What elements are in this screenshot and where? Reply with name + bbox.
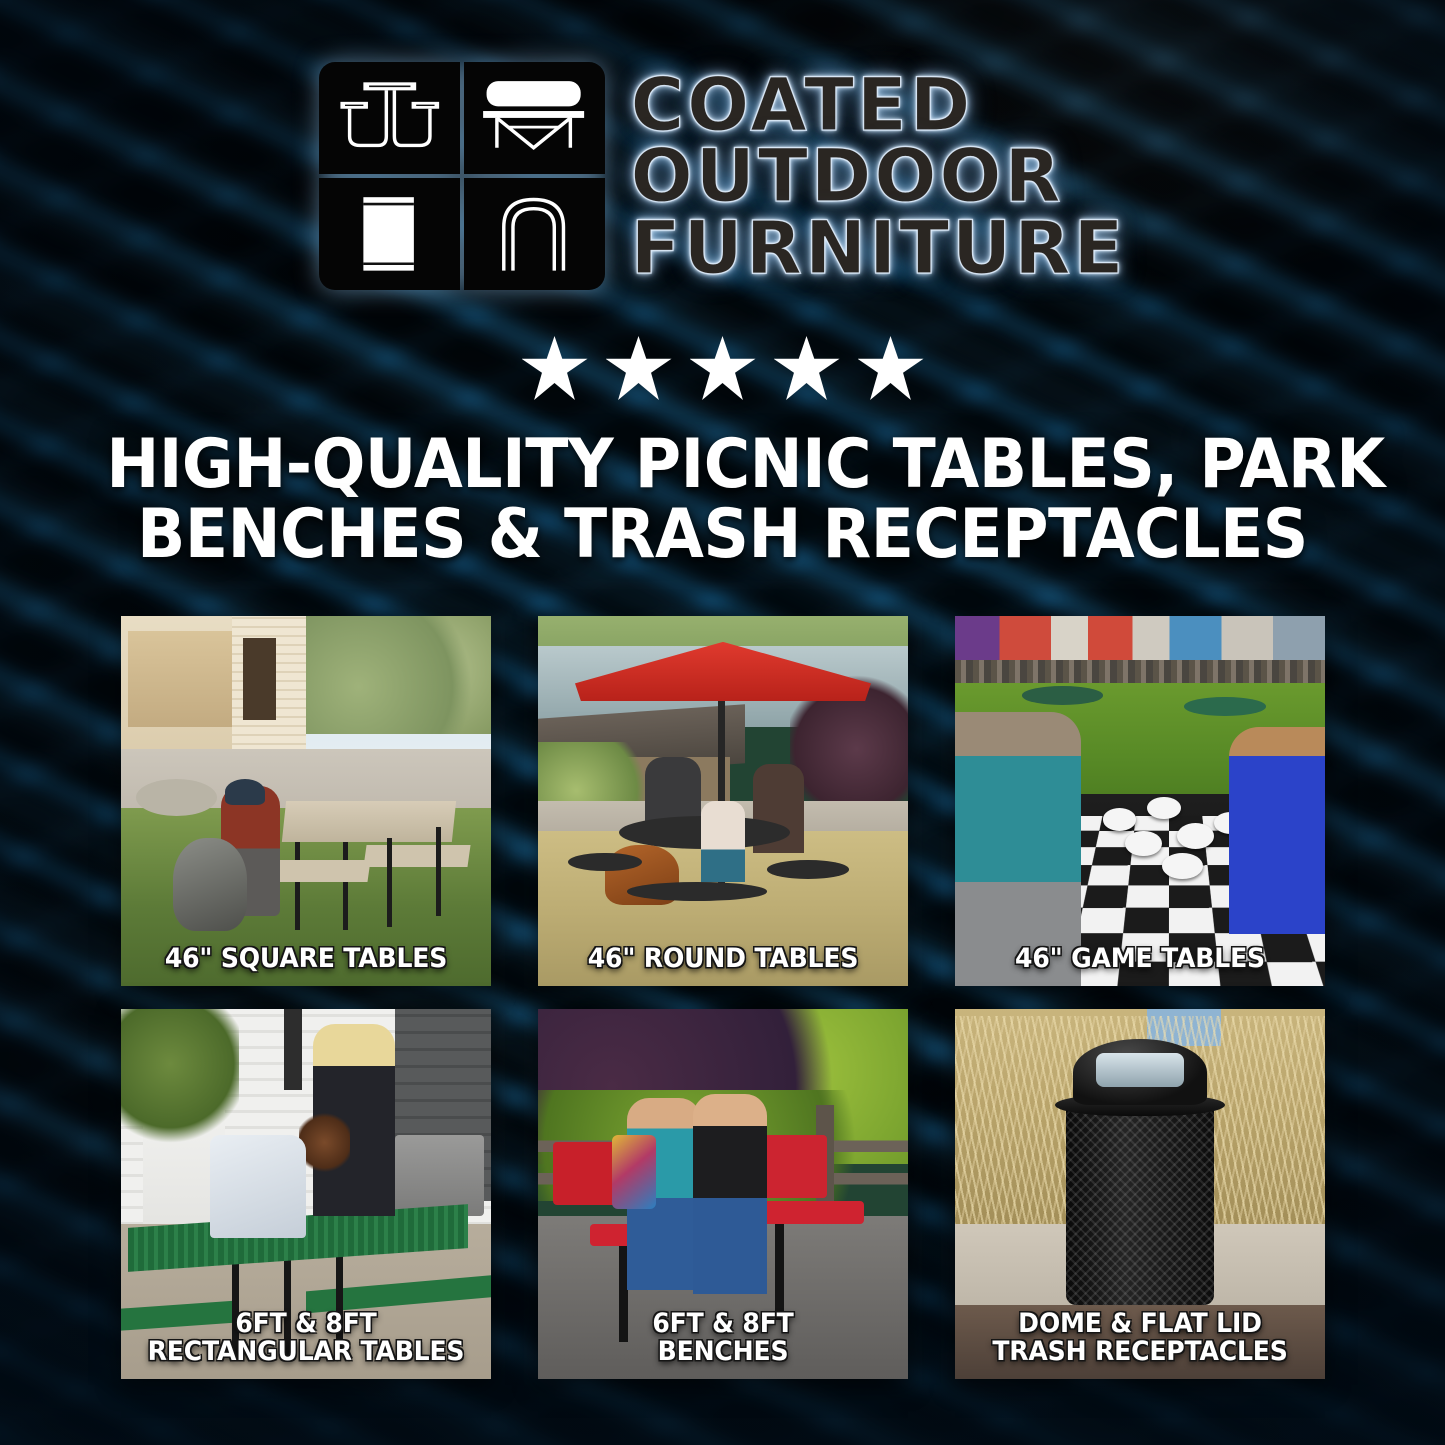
arch-bike-rack-icon [464, 178, 605, 290]
star-icon [690, 336, 756, 400]
product-photo-square-tables [121, 616, 491, 986]
product-card-game-tables[interactable]: 46" GAME TABLES [955, 616, 1325, 986]
headline-line-1: HIGH-QUALITY PICNIC TABLES, PARK [106, 430, 1338, 500]
headline-line-2: BENCHES & TRASH RECEPTACLES [106, 500, 1338, 570]
product-card-benches[interactable]: 6FT & 8FT BENCHES [538, 1009, 908, 1379]
star-icon [774, 336, 840, 400]
star-icon [522, 336, 588, 400]
product-caption: 6FT & 8FT BENCHES [557, 1310, 890, 1367]
caption-line-1: 46" GAME TABLES [974, 945, 1307, 974]
headline: HIGH-QUALITY PICNIC TABLES, PARK BENCHES… [106, 430, 1338, 570]
caption-line-1: DOME & FLAT LID [974, 1310, 1307, 1339]
caption-line-2: RECTANGULAR TABLES [140, 1338, 473, 1367]
logo-icon-grid [319, 62, 605, 290]
brand-logo: COATED OUTDOOR FURNITURE [0, 62, 1445, 290]
caption-line-2: BENCHES [557, 1338, 890, 1367]
product-caption: 6FT & 8FT RECTANGULAR TABLES [140, 1310, 473, 1367]
caption-line-2: TRASH RECEPTACLES [974, 1338, 1307, 1367]
caption-line-1: 46" ROUND TABLES [557, 945, 890, 974]
product-card-square-tables[interactable]: 46" SQUARE TABLES [121, 616, 491, 986]
product-card-trash-receptacles[interactable]: DOME & FLAT LID TRASH RECEPTACLES [955, 1009, 1325, 1379]
promo-poster: COATED OUTDOOR FURNITURE HIGH-QUALITY PI… [0, 0, 1445, 1445]
product-caption: DOME & FLAT LID TRASH RECEPTACLES [974, 1310, 1307, 1367]
product-caption: 46" ROUND TABLES [557, 945, 890, 974]
product-photo-game-tables [955, 616, 1325, 986]
product-caption: 46" SQUARE TABLES [140, 945, 473, 974]
brand-wordmark: COATED OUTDOOR FURNITURE [631, 69, 1127, 283]
picnic-table-front-icon [319, 62, 460, 174]
product-card-round-tables[interactable]: 46" ROUND TABLES [538, 616, 908, 986]
caption-line-1: 6FT & 8FT [140, 1310, 473, 1339]
star-icon [858, 336, 924, 400]
picnic-table-side-icon [464, 62, 605, 174]
caption-line-1: 6FT & 8FT [557, 1310, 890, 1339]
wordmark-line-3: FURNITURE [631, 214, 1127, 283]
caption-line-1: 46" SQUARE TABLES [140, 945, 473, 974]
product-caption: 46" GAME TABLES [974, 945, 1307, 974]
product-grid: 46" SQUARE TABLES [121, 616, 1325, 1379]
wordmark-line-2: OUTDOOR [631, 142, 1064, 211]
wordmark-line-1: COATED [631, 71, 974, 140]
star-icon [606, 336, 672, 400]
trash-receptacle-icon [319, 178, 460, 290]
product-photo-round-tables [538, 616, 908, 986]
star-rating [0, 336, 1445, 400]
product-card-rectangular-tables[interactable]: 6FT & 8FT RECTANGULAR TABLES [121, 1009, 491, 1379]
